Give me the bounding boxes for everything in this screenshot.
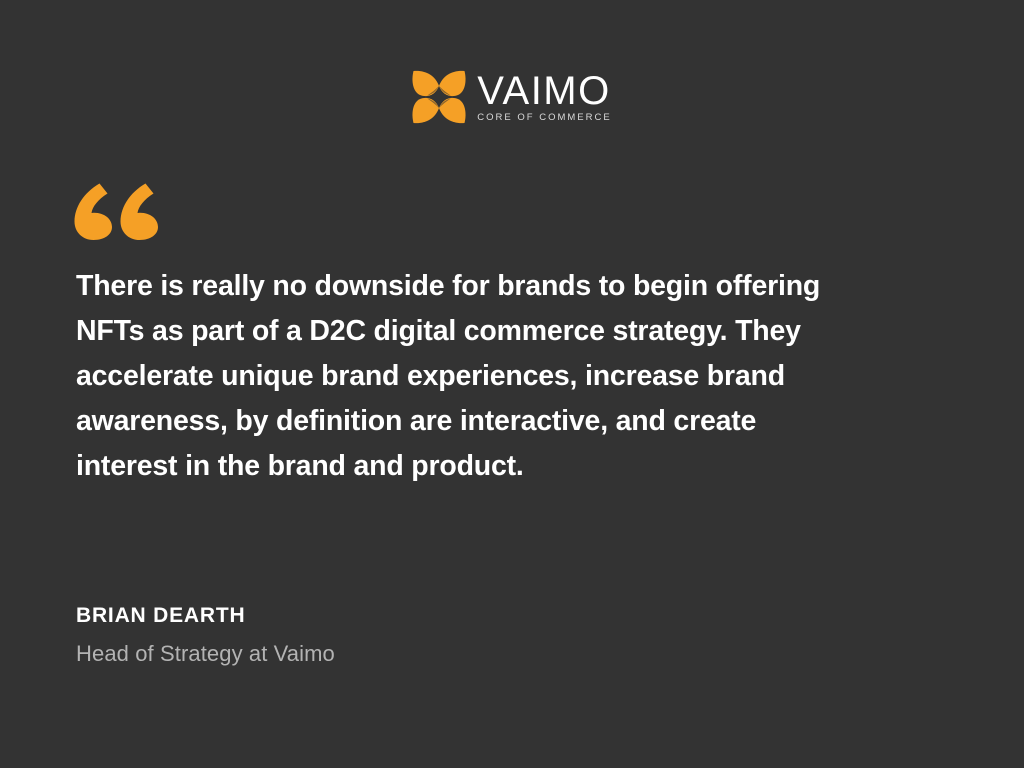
quote-line: NFTs as part of a D2C digital commerce s… xyxy=(76,309,906,354)
brand-wordmark: VAIMO CORE OF COMMERCE xyxy=(477,71,612,123)
vaimo-x-logo-icon xyxy=(411,68,467,126)
author-role: Head of Strategy at Vaimo xyxy=(76,639,335,669)
quote-line: There is really no downside for brands t… xyxy=(76,264,906,309)
quote-line: interest in the brand and product. xyxy=(76,444,906,489)
brand-logo-lockup: VAIMO CORE OF COMMERCE xyxy=(0,68,1024,126)
quote-line: awareness, by definition are interactive… xyxy=(76,399,906,444)
quote-text: There is really no downside for brands t… xyxy=(76,264,906,489)
left-double-quotation-mark-icon xyxy=(74,183,164,241)
quote-attribution: BRIAN DEARTH Head of Strategy at Vaimo xyxy=(76,602,335,669)
author-name: BRIAN DEARTH xyxy=(76,602,335,630)
quote-card-slide: { "theme": { "background_color": "#33333… xyxy=(0,0,1024,768)
brand-name: VAIMO xyxy=(477,73,610,110)
brand-tagline: CORE OF COMMERCE xyxy=(477,112,612,123)
quote-line: accelerate unique brand experiences, inc… xyxy=(76,354,906,399)
